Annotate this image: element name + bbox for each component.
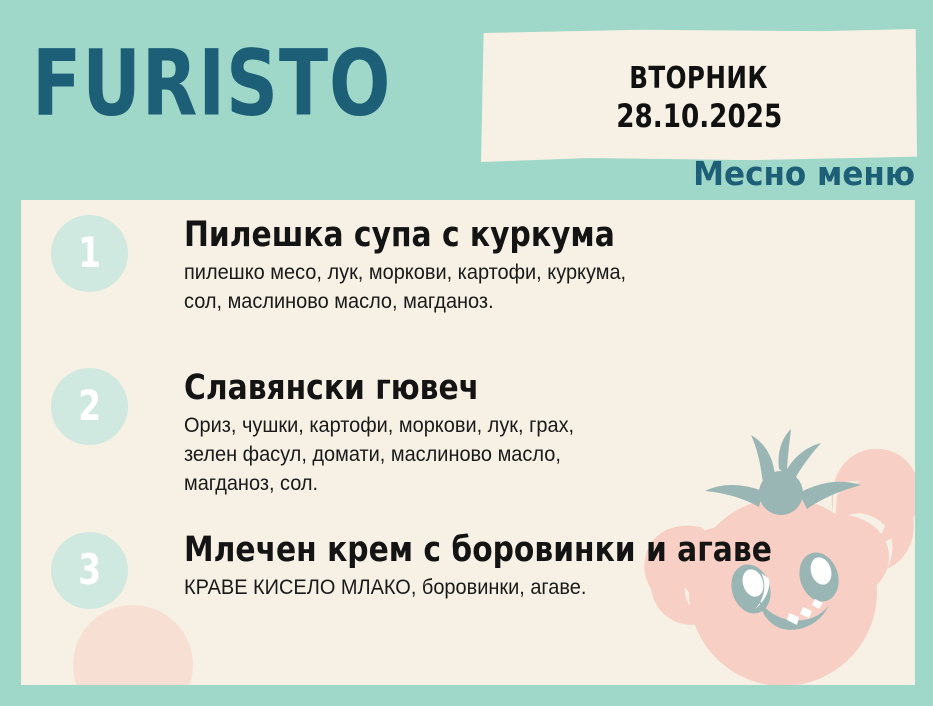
menu-item-number: 2 <box>78 385 101 427</box>
menu-card: 1 Пилешка супа с куркума пилешко месо, л… <box>21 200 915 685</box>
menu-kind-label: Месно меню <box>693 156 915 192</box>
menu-item-description: КРАВЕ КИСЕЛО МЛАКО, боровинки, агаве. <box>184 573 865 602</box>
menu-item-description: Ориз, чушки, картофи, моркови, лук, грах… <box>184 411 865 498</box>
menu-item: 3 Млечен крем с боровинки и агаве КРАВЕ … <box>51 530 901 602</box>
menu-item-title: Млечен крем с боровинки и агаве <box>184 530 793 570</box>
brand-logo: FURISTO <box>32 38 391 129</box>
menu-item-number: 3 <box>78 549 101 591</box>
menu-items-list: 1 Пилешка супа с куркума пилешко месо, л… <box>21 200 915 685</box>
menu-item: 2 Славянски гювеч Ориз, чушки, картофи, … <box>51 368 901 498</box>
menu-item-title: Пилешка супа с куркума <box>184 215 793 255</box>
date-card: ВТОРНИК 28.10.2025 <box>481 29 917 162</box>
menu-item-description: пилешко месо, лук, моркови, картофи, кур… <box>184 258 865 316</box>
poster-header: FURISTO ВТОРНИК 28.10.2025 Месно меню <box>0 0 933 200</box>
menu-item-title: Славянски гювеч <box>184 368 793 408</box>
menu-item: 1 Пилешка супа с куркума пилешко месо, л… <box>51 215 901 316</box>
menu-item-number-badge: 1 <box>51 215 128 292</box>
menu-item-number-badge: 2 <box>51 368 128 445</box>
menu-item-number-badge: 3 <box>51 532 128 609</box>
menu-poster: FURISTO ВТОРНИК 28.10.2025 Месно меню <box>0 0 933 706</box>
menu-item-number: 1 <box>78 232 101 274</box>
date-label: 28.10.2025 <box>616 98 782 134</box>
day-of-week-label: ВТОРНИК <box>630 62 769 96</box>
